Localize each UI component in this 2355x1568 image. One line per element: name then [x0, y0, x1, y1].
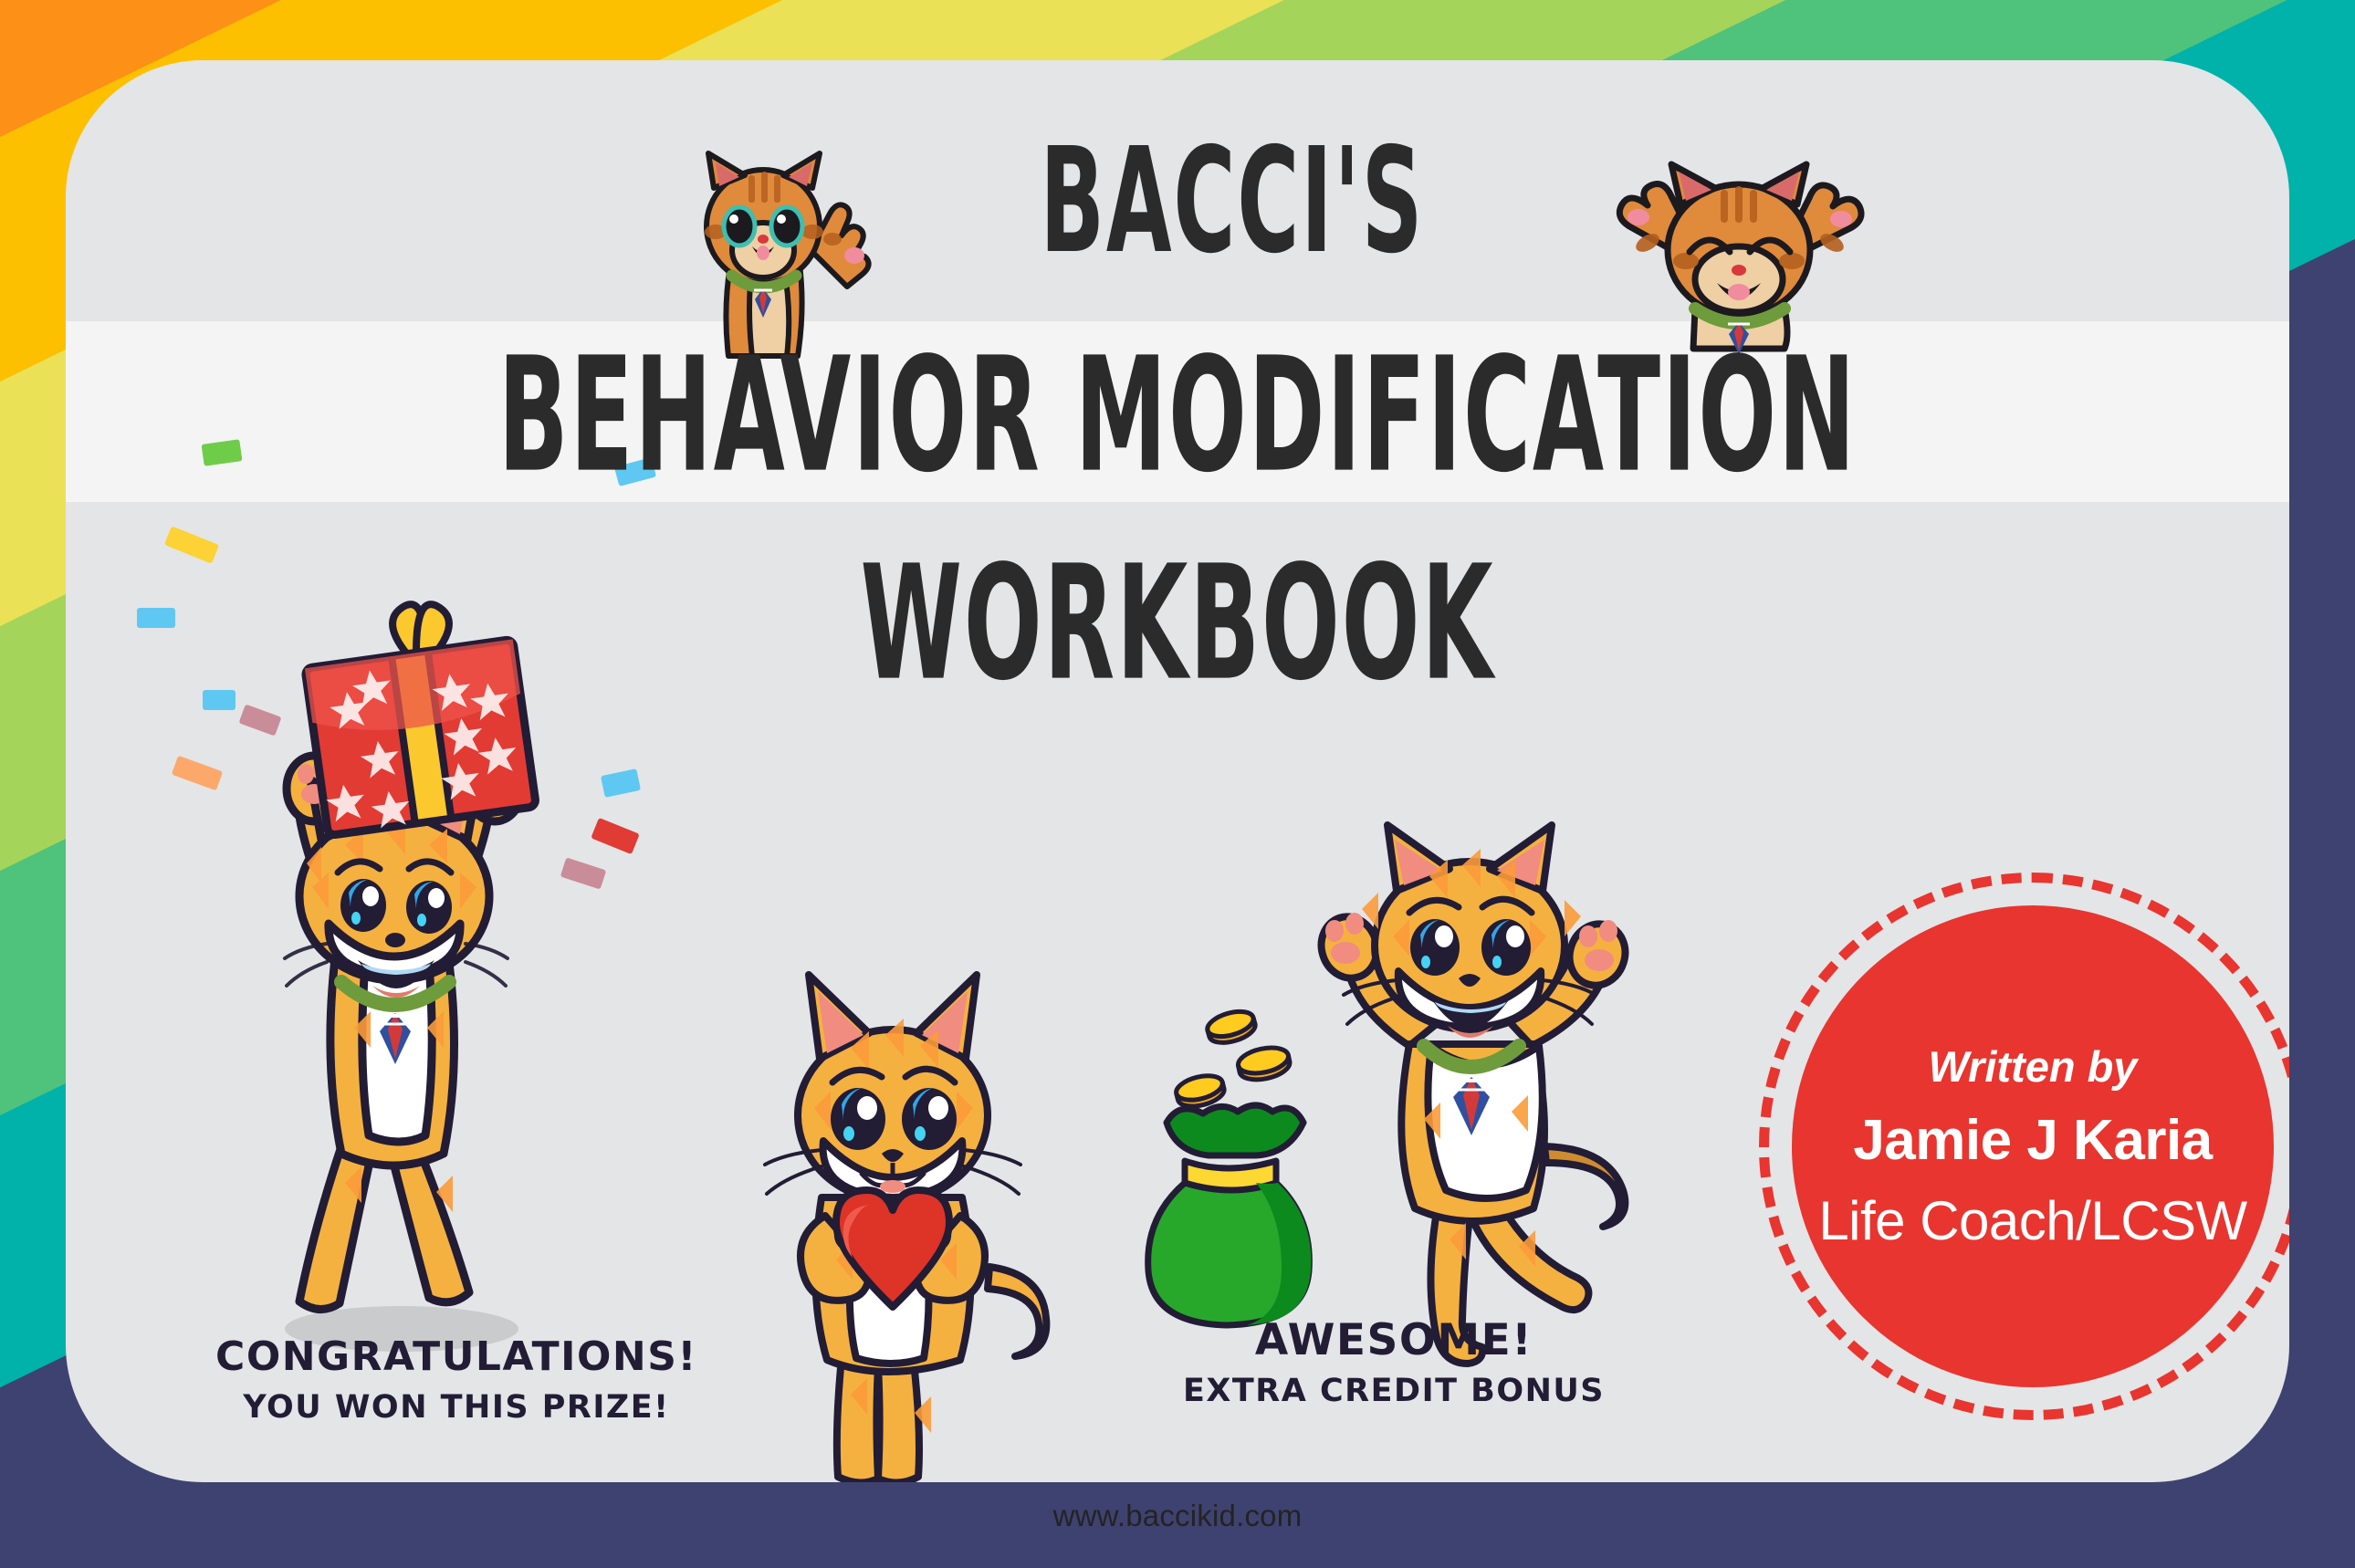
- book-cover: BACCI'S BEHAVIOR MODIFICATION WORKBOOK C…: [0, 0, 2355, 1568]
- caption-awesome-line1: AWESOME!: [1138, 1315, 1649, 1365]
- cat-with-heart-illustration: [716, 938, 1081, 1482]
- author-role: Life Coach/LCSW: [1818, 1189, 2246, 1252]
- caption-congratulations-line2: YOU WON THIS PRIZE!: [164, 1389, 748, 1426]
- website-url[interactable]: www.baccikid.com: [0, 1499, 2355, 1533]
- title-line-behavior-modification: BEHAVIOR MODIFICATION: [154, 323, 2200, 507]
- caption-congratulations: CONGRATULATIONS! YOU WON THIS PRIZE!: [164, 1333, 748, 1426]
- author-name: Jamie J Karia: [1853, 1108, 2212, 1173]
- title-line-bacci: BACCI'S: [154, 118, 2200, 287]
- cat-dancing-illustration: [1271, 818, 1672, 1375]
- cover-card: BACCI'S BEHAVIOR MODIFICATION WORKBOOK C…: [66, 60, 2289, 1482]
- title-line-workbook: WORKBOOK: [154, 531, 2200, 716]
- caption-congratulations-line1: CONGRATULATIONS!: [164, 1333, 748, 1380]
- author-written-by-label: Written by: [1929, 1041, 2138, 1092]
- author-badge: Written by Jamie J Karia Life Coach/LCSW: [1759, 873, 2289, 1420]
- caption-awesome: AWESOME! EXTRA CREDIT BONUS: [1138, 1315, 1649, 1409]
- author-badge-circle: Written by Jamie J Karia Life Coach/LCSW: [1792, 905, 2274, 1387]
- caption-awesome-line2: EXTRA CREDIT BONUS: [1138, 1373, 1649, 1409]
